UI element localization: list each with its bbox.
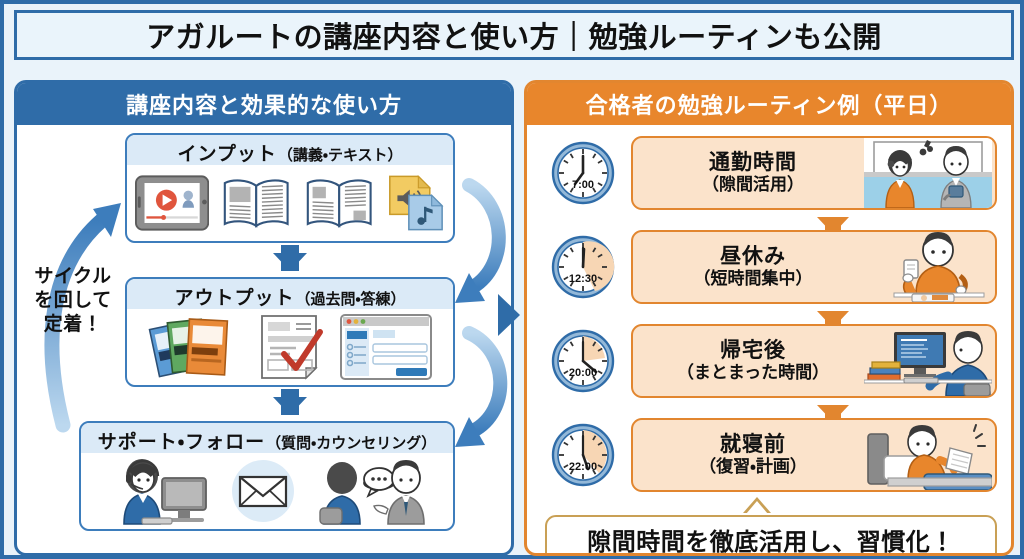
cycle-note: サイクル を回して 定着！ bbox=[25, 265, 121, 336]
stage-card-support[interactable]: サポート・フォロー （質問・カウンセリング） bbox=[79, 421, 455, 531]
cycle-note-line-1: サイクル bbox=[25, 265, 121, 289]
open-book-icon bbox=[304, 175, 374, 231]
routine-card-4[interactable]: 就寝前 （復習・計画） bbox=[631, 418, 997, 492]
clock-wrap-1: 7:00 bbox=[545, 140, 621, 206]
support-operator-icon bbox=[108, 456, 212, 526]
left-panel: 講座内容と効果的な使い方 bbox=[14, 80, 514, 556]
routine-card-2[interactable]: 昼休み （短時間集中） bbox=[631, 230, 997, 304]
open-book-icon bbox=[221, 175, 291, 231]
envelope-icon bbox=[224, 458, 302, 524]
routine-text-4: 就寝前 （復習・計画） bbox=[633, 433, 863, 478]
cycle-note-line-3: 定着！ bbox=[25, 313, 121, 337]
infographic-root: アガルートの講座内容と使い方｜勉強ルーティンも公開 講座内容と効果的な使い方 bbox=[0, 0, 1024, 559]
counseling-talk-icon bbox=[314, 456, 426, 526]
stage-input-title-sub: （講義・テキスト） bbox=[278, 144, 403, 165]
stage-input-art bbox=[127, 165, 453, 241]
routine-art-4 bbox=[863, 420, 993, 490]
cycle-note-line-2: を回して bbox=[25, 289, 121, 313]
clock-wrap-3: 20:00 bbox=[545, 328, 621, 394]
page-title-bar: アガルートの講座内容と使い方｜勉強ルーティンも公開 bbox=[14, 10, 1014, 60]
right-panel-header-label: 合格者の勉強ルーティン例（平日） bbox=[586, 88, 953, 120]
routine-main-4: 就寝前 bbox=[643, 433, 863, 457]
clock-time-label-3: 20:00 bbox=[569, 367, 597, 379]
summary-notch bbox=[743, 497, 771, 513]
routine-card-3[interactable]: 帰宅後 （まとまった時間） bbox=[631, 324, 997, 398]
stage-support-title: サポート・フォロー （質問・カウンセリング） bbox=[81, 423, 453, 453]
routine-sub-3: （まとまった時間） bbox=[643, 363, 863, 383]
routine-main-1: 通勤時間 bbox=[643, 151, 863, 175]
stage-output-title-main: アウトプット bbox=[174, 283, 294, 310]
routine-art-2 bbox=[863, 232, 993, 302]
panel-connector-arrow bbox=[498, 294, 520, 336]
page-title: アガルートの講座内容と使い方｜勉強ルーティンも公開 bbox=[146, 14, 882, 56]
stage-input-title: インプット （講義・テキスト） bbox=[127, 135, 453, 165]
routine-sub-2: （短時間集中） bbox=[643, 269, 863, 289]
routine-card-1[interactable]: 通勤時間 （隙間活用） bbox=[631, 136, 997, 210]
online-quiz-window-icon bbox=[340, 314, 432, 380]
desk-pc-study-icon bbox=[864, 326, 992, 396]
routine-sub-4: （復習・計画） bbox=[643, 457, 863, 477]
clock-time-label-4: 22:00 bbox=[569, 461, 597, 473]
summary-box: 隙間時間を徹底活用し、習慣化！ bbox=[545, 515, 997, 556]
flow-arrow-down-1 bbox=[273, 253, 307, 271]
routine-main-2: 昼休み bbox=[643, 245, 863, 269]
clock-icon: 22:00 bbox=[550, 422, 616, 488]
clock-icon: 12:30 bbox=[550, 234, 616, 300]
stage-input-title-main: インプット bbox=[177, 139, 276, 166]
train-commuters-icon bbox=[864, 138, 992, 208]
stage-card-input[interactable]: インプット （講義・テキスト） bbox=[125, 133, 455, 243]
stage-card-output[interactable]: アウトプット （過去問・答練） bbox=[125, 277, 455, 387]
right-panel: 合格者の勉強ルーティン例（平日） bbox=[524, 80, 1014, 556]
workbook-stack-icon bbox=[148, 314, 244, 380]
stage-support-art bbox=[81, 453, 453, 529]
left-panel-header: 講座内容と効果的な使い方 bbox=[17, 83, 511, 125]
stage-output-title: アウトプット （過去問・答練） bbox=[127, 279, 453, 309]
routine-text-2: 昼休み （短時間集中） bbox=[633, 245, 863, 290]
routine-sub-1: （隙間活用） bbox=[643, 175, 863, 195]
tablet-video-icon bbox=[135, 174, 209, 232]
audio-file-icon bbox=[386, 173, 445, 233]
stage-output-title-sub: （過去問・答練） bbox=[295, 288, 405, 309]
routine-row[interactable]: 12:30 昼休み （短時間集中） bbox=[545, 229, 997, 305]
left-panel-header-label: 講座内容と効果的な使い方 bbox=[126, 88, 402, 120]
routine-row[interactable]: 20:00 帰宅後 （まとまった時間） bbox=[545, 323, 997, 399]
clock-icon: 7:00 bbox=[550, 140, 616, 206]
summary-label: 隙間時間を徹底活用し、習慣化！ bbox=[587, 522, 955, 557]
clock-wrap-2: 12:30 bbox=[545, 234, 621, 300]
infographic-canvas: アガルートの講座内容と使い方｜勉強ルーティンも公開 講座内容と効果的な使い方 bbox=[4, 4, 1020, 555]
lunch-study-icon bbox=[864, 232, 992, 302]
flow-arrow-down-2 bbox=[273, 397, 307, 415]
right-panel-header: 合格者の勉強ルーティン例（平日） bbox=[527, 83, 1011, 125]
routine-text-1: 通勤時間 （隙間活用） bbox=[633, 151, 863, 196]
stage-output-art bbox=[127, 309, 453, 385]
clock-time-label-1: 7:00 bbox=[572, 179, 594, 191]
exam-paper-check-icon bbox=[256, 314, 328, 380]
clock-time-label-2: 12:30 bbox=[569, 273, 597, 285]
left-panel-body: サイクル を回して 定着！ インプット （講義・テキスト） bbox=[17, 125, 511, 553]
clock-icon: 20:00 bbox=[550, 328, 616, 394]
stage-support-title-main: サポート・フォロー bbox=[98, 427, 265, 454]
routine-main-3: 帰宅後 bbox=[643, 339, 863, 363]
routine-row[interactable]: 22:00 就寝前 （復習・計画） bbox=[545, 417, 997, 493]
right-panel-body: 7:00 通勤時間 （隙間活用） bbox=[527, 125, 1011, 553]
routine-row[interactable]: 7:00 通勤時間 （隙間活用） bbox=[545, 135, 997, 211]
routine-text-3: 帰宅後 （まとまった時間） bbox=[633, 339, 863, 384]
stage-support-title-sub: （質問・カウンセリング） bbox=[266, 432, 436, 453]
clock-wrap-4: 22:00 bbox=[545, 422, 621, 488]
routine-art-3 bbox=[863, 326, 993, 396]
bed-reading-icon bbox=[864, 420, 992, 490]
routine-art-1 bbox=[863, 138, 993, 208]
